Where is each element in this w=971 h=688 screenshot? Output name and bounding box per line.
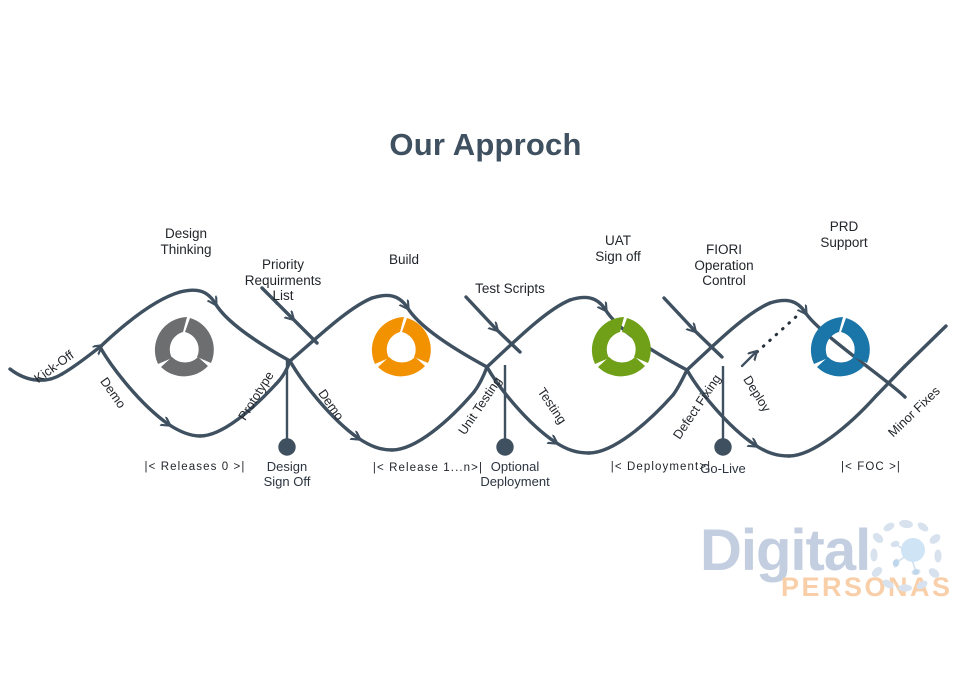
label-priority-requirements-list: Priority Requirments List xyxy=(228,257,338,304)
milestone-label-optional-deployment: Optional Deployment xyxy=(462,459,568,489)
phase2-testscripts-line-a xyxy=(466,297,481,313)
milestone-dot-go-live xyxy=(716,440,731,455)
phase2-top-arrow xyxy=(372,295,407,307)
deploy-dotted-line xyxy=(757,315,798,352)
phase4-top-arrow xyxy=(770,300,805,312)
phase4-bottom-arrow xyxy=(755,445,789,456)
label-uat-sign-off: UAT Sign off xyxy=(574,233,662,264)
slide-canvas: Our Approch xyxy=(0,0,971,688)
phase3-testing-arrow xyxy=(555,442,589,453)
digital-personas-logo: Digital PERSONAS xyxy=(700,516,950,612)
cycle-icon-uat xyxy=(592,317,651,376)
network-sphere-icon xyxy=(866,516,946,596)
phase1-top-arrow xyxy=(180,290,215,303)
phase1-edge-right-down xyxy=(215,303,290,361)
bracket-foc: |< FOC >| xyxy=(806,461,936,473)
label-fiori-operation-control: FIORI Operation Control xyxy=(676,242,772,289)
milestone-dot-design-signoff xyxy=(280,440,295,455)
phase3-defect-fixing-line xyxy=(589,395,673,453)
phase2-testscripts-arrow xyxy=(481,313,496,329)
milestone-dot-optional-deployment xyxy=(498,440,513,455)
phase1-demo-arrow xyxy=(168,424,200,436)
milestone-label-design-signoff: Design Sign Off xyxy=(247,459,327,489)
phase3-fiori-line-a xyxy=(664,298,679,314)
phase2-demo-arrow xyxy=(358,438,392,450)
logo-mark-core xyxy=(901,538,925,562)
label-design-thinking: Design Thinking xyxy=(138,226,234,257)
phase4-exit-tail xyxy=(905,326,946,366)
phase3-defect-join xyxy=(673,370,687,395)
label-test-scripts: Test Scripts xyxy=(456,281,564,297)
phase3-top-arrow xyxy=(570,297,605,309)
label-build: Build xyxy=(366,252,442,268)
label-prd-support: PRD Support xyxy=(800,219,888,250)
phase4-minorfixes-line xyxy=(789,396,876,456)
phase3-fiori-arrow xyxy=(679,314,694,330)
phase1-priority-arrow xyxy=(277,303,292,318)
milestone-label-go-live: Go-Live xyxy=(683,461,763,476)
cycle-icon-design xyxy=(155,317,214,376)
